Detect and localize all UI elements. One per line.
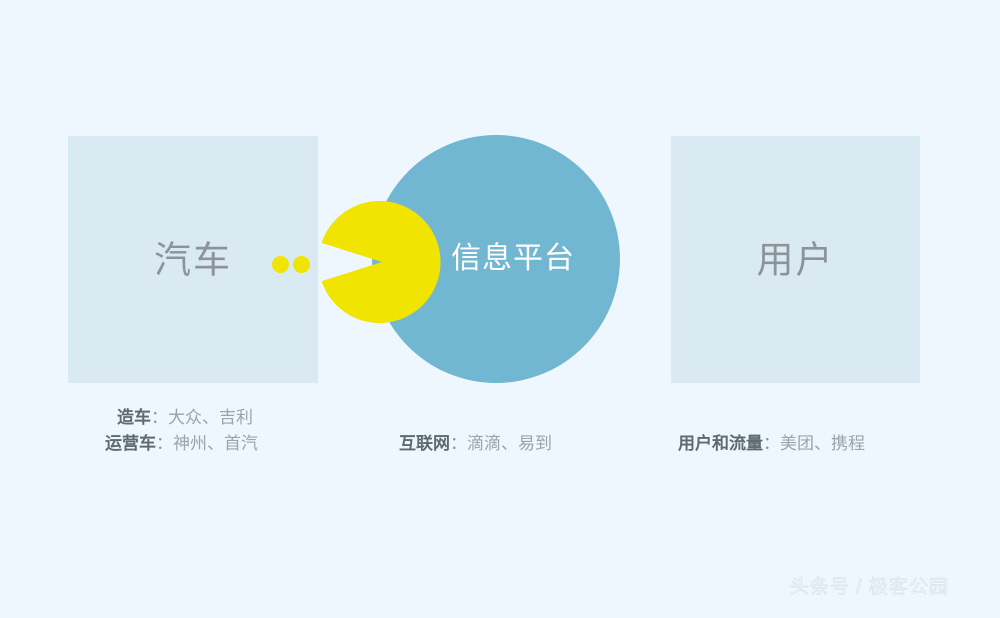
node-users-panel: 用户 bbox=[671, 136, 920, 383]
caption-platform: 互联网：滴滴、易到 bbox=[399, 431, 552, 457]
caption-users: 用户和流量：美团、携程 bbox=[678, 431, 865, 457]
caption-value: 大众、吉利 bbox=[168, 408, 253, 427]
diagram-canvas: 汽车 信息平台 用户 造车：大众、吉利 运营车：神州、首汽 互联网：滴滴、易到 … bbox=[0, 0, 1000, 618]
caption-line: 运营车：神州、首汽 bbox=[105, 431, 258, 457]
caption-separator: ： bbox=[763, 434, 780, 453]
caption-line: 互联网：滴滴、易到 bbox=[399, 431, 552, 457]
caption-key: 用户和流量 bbox=[678, 434, 763, 453]
pacman-pellet-icon bbox=[272, 256, 289, 273]
caption-separator: ： bbox=[156, 434, 173, 453]
caption-cars: 造车：大众、吉利 运营车：神州、首汽 bbox=[105, 405, 258, 457]
caption-key: 运营车 bbox=[105, 434, 156, 453]
caption-line: 造车：大众、吉利 bbox=[105, 405, 258, 431]
pacman-icon bbox=[321, 201, 443, 323]
watermark: 头条号 / 极客公园 bbox=[790, 578, 949, 597]
node-users-label: 用户 bbox=[671, 241, 920, 278]
caption-key: 造车 bbox=[117, 408, 151, 427]
caption-key: 互联网 bbox=[399, 434, 450, 453]
pacman-pellet-icon bbox=[293, 256, 310, 273]
caption-line: 用户和流量：美团、携程 bbox=[678, 431, 865, 457]
caption-value: 滴滴、易到 bbox=[467, 434, 552, 453]
caption-value: 神州、首汽 bbox=[173, 434, 258, 453]
caption-separator: ： bbox=[151, 408, 168, 427]
caption-separator: ： bbox=[450, 434, 467, 453]
caption-value: 美团、携程 bbox=[780, 434, 865, 453]
